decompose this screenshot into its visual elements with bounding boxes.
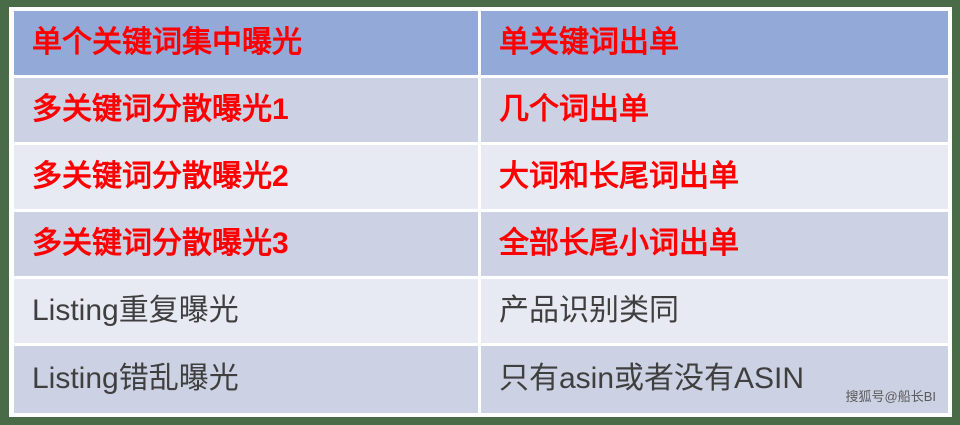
table-cell-left: Listing错乱曝光: [14, 346, 481, 413]
keyword-exposure-table: 单个关键词集中曝光 单关键词出单 多关键词分散曝光1 几个词出单: [14, 11, 948, 413]
table-cell-left: 多关键词分散曝光3: [14, 212, 481, 279]
cell-text: 产品识别类同: [499, 294, 679, 327]
cell-text: 只有asin或者没有ASIN: [499, 362, 804, 395]
table-frame: 单个关键词集中曝光 单关键词出单 多关键词分散曝光1 几个词出单: [9, 7, 952, 417]
cell-text: 全部长尾小词出单: [499, 227, 739, 260]
slide-canvas: 单个关键词集中曝光 单关键词出单 多关键词分散曝光1 几个词出单: [0, 0, 960, 425]
cell-text: Listing错乱曝光: [32, 362, 239, 395]
cell-text: 多关键词分散曝光3: [32, 227, 289, 260]
table-cell-right: 全部长尾小词出单: [481, 212, 948, 279]
cell-text: 单个关键词集中曝光: [32, 26, 302, 59]
table-row: 多关键词分散曝光1 几个词出单: [14, 78, 948, 145]
table-body: 单个关键词集中曝光 单关键词出单 多关键词分散曝光1 几个词出单: [14, 11, 948, 413]
table-cell-right: 大词和长尾词出单: [481, 145, 948, 212]
cell-text: 多关键词分散曝光1: [32, 93, 289, 126]
table-cell-right: 单关键词出单: [481, 11, 948, 78]
table-row: Listing错乱曝光 只有asin或者没有ASIN: [14, 346, 948, 413]
cell-text: 几个词出单: [499, 93, 649, 126]
table-row: Listing重复曝光 产品识别类同: [14, 279, 948, 346]
table-cell-left: 多关键词分散曝光2: [14, 145, 481, 212]
cell-text: 单关键词出单: [499, 26, 679, 59]
table-cell-left: 多关键词分散曝光1: [14, 78, 481, 145]
table-cell-right: 几个词出单: [481, 78, 948, 145]
table-cell-right: 只有asin或者没有ASIN: [481, 346, 948, 413]
table-row: 多关键词分散曝光2 大词和长尾词出单: [14, 145, 948, 212]
table-cell-left: Listing重复曝光: [14, 279, 481, 346]
cell-text: Listing重复曝光: [32, 294, 239, 327]
table-row: 单个关键词集中曝光 单关键词出单: [14, 11, 948, 78]
table-row: 多关键词分散曝光3 全部长尾小词出单: [14, 212, 948, 279]
cell-text: 多关键词分散曝光2: [32, 160, 289, 193]
cell-text: 大词和长尾词出单: [499, 160, 739, 193]
table-cell-right: 产品识别类同: [481, 279, 948, 346]
table-cell-left: 单个关键词集中曝光: [14, 11, 481, 78]
